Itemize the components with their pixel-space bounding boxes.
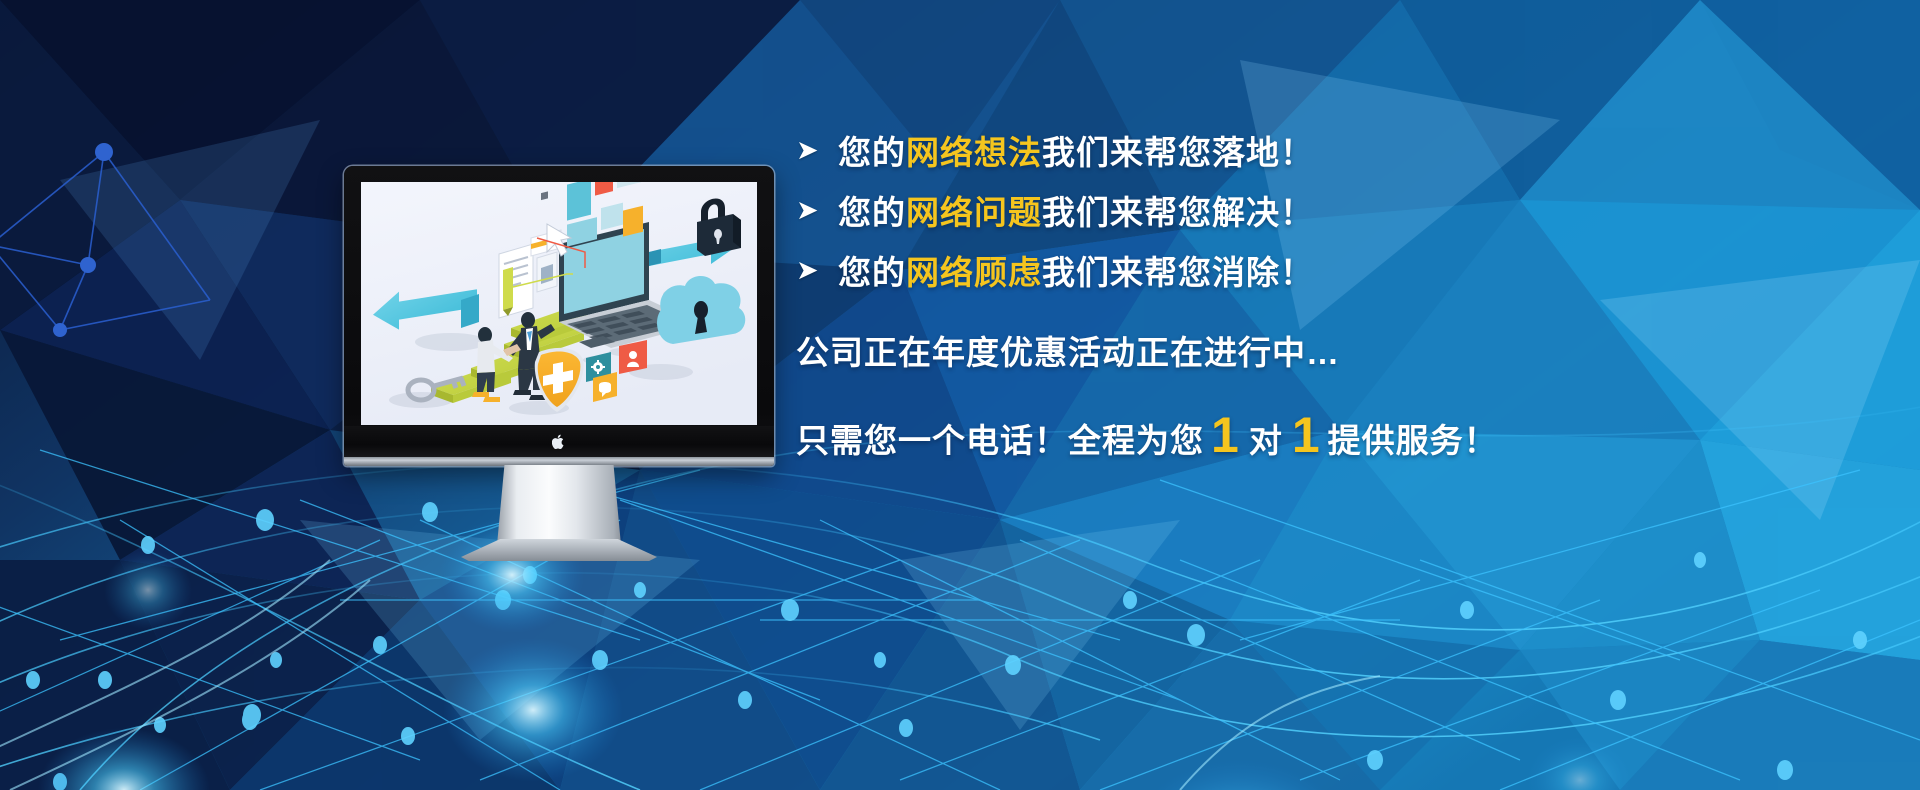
bullet-item: ➤ 您的网络顾虑我们来帮您消除！ [796,240,1846,300]
cta-lead: 只需您一个电话！全程为您 [796,414,1204,462]
promo-banner: ➤ 您的网络想法我们来帮您落地！ ➤ 您的网络问题我们来帮您解决！ ➤ 您的网络… [0,0,1920,790]
marketing-copy: ➤ 您的网络想法我们来帮您落地！ ➤ 您的网络问题我们来帮您解决！ ➤ 您的网络… [796,120,1846,462]
monitor-screen [361,182,757,425]
document-small [537,252,557,292]
arrow-marker-icon: ➤ [796,197,838,224]
bullet-suffix: 我们来帮您解决！ [1042,194,1314,231]
bullet-suffix: 我们来帮您消除！ [1042,254,1314,291]
monitor-stand-base [461,539,657,561]
user-app-tile [619,340,647,374]
arrow-marker-icon: ➤ [796,257,838,284]
isometric-network-security-scene [361,182,757,425]
monitor-foot-edge [344,457,774,466]
bullet-text: 您的网络想法我们来帮您落地！ [838,126,1314,174]
monitor-stand-neck [497,465,621,545]
monitor-bezel [344,166,774,466]
bullet-suffix: 我们来帮您落地！ [1042,134,1314,171]
bullet-prefix: 您的 [838,134,906,171]
bullet-highlight: 网络顾虑 [906,254,1042,291]
apple-logo [552,433,566,449]
bullet-text: 您的网络顾虑我们来帮您消除！ [838,246,1314,294]
promo-line: 公司正在年度优惠活动正在进行中… [796,326,1846,374]
bullet-prefix: 您的 [838,254,906,291]
imac-monitor [344,166,774,546]
bullet-item: ➤ 您的网络问题我们来帮您解决！ [796,180,1846,240]
cta-tail: 提供服务！ [1328,414,1498,462]
bullet-highlight: 网络问题 [906,194,1042,231]
cta-middle: 对 [1247,414,1285,462]
bullet-text: 您的网络问题我们来帮您解决！ [838,186,1314,234]
bullet-highlight: 网络想法 [906,134,1042,171]
monitor-chin-bar [344,426,774,457]
bullet-prefix: 您的 [838,194,906,231]
cta-line: 只需您一个电话！全程为您 1 对 1 提供服务！ [796,414,1846,462]
arrow-marker-icon: ➤ [796,137,838,164]
document-sheet [499,244,533,318]
bullet-item: ➤ 您的网络想法我们来帮您落地！ [796,120,1846,180]
